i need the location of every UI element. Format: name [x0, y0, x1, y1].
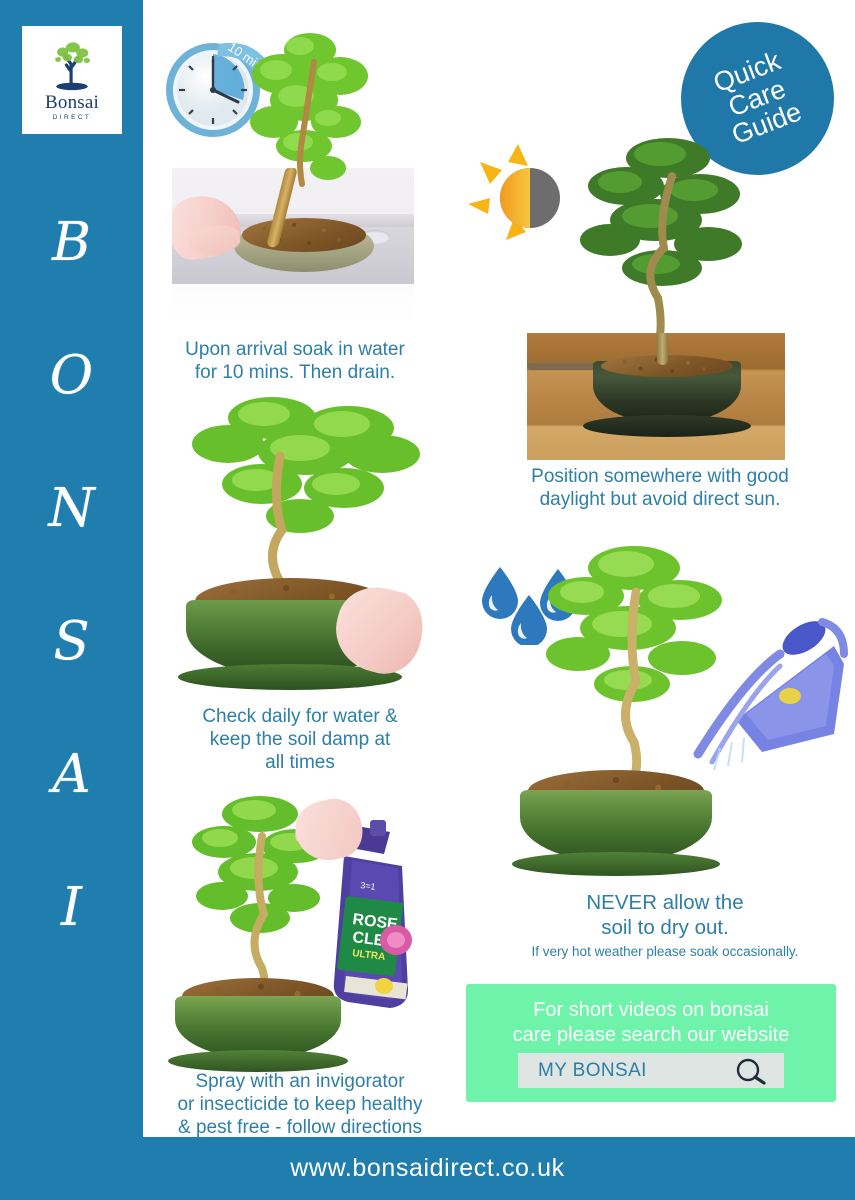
- caption-position-line1: Position somewhere with good: [500, 465, 820, 488]
- caption-position-line2: daylight but avoid direct sun.: [500, 488, 820, 511]
- footer-bar: www.bonsaidirect.co.uk: [0, 1137, 855, 1200]
- bonsai-soil: [242, 218, 366, 252]
- brand-logo[interactable]: Bonsai DIRECT: [22, 26, 122, 134]
- vertical-letter-o: O: [50, 349, 93, 402]
- caption-check-line3: all times: [160, 751, 440, 774]
- vertical-letter-a: A: [52, 748, 90, 801]
- video-search-box: For short videos on bonsai care please s…: [466, 984, 836, 1102]
- search-input-value: MY BONSAI: [538, 1060, 647, 1082]
- website-url[interactable]: www.bonsaidirect.co.uk: [290, 1154, 564, 1183]
- vertical-letter-i: I: [61, 881, 82, 934]
- caption-spray-line2: or insecticide to keep healthy: [155, 1093, 445, 1116]
- search-input[interactable]: MY BONSAI: [518, 1053, 784, 1088]
- caption-never-line2: soil to dry out.: [500, 915, 830, 940]
- vertical-bonsai-letters: B O N S A I: [0, 216, 143, 1014]
- caption-never-subtext: If very hot weather please soak occasion…: [500, 943, 830, 961]
- caption-soak: Upon arrival soak in water for 10 mins. …: [150, 338, 440, 384]
- photo-soaking-bonsai: [172, 168, 414, 328]
- bonsai-canopy-soak: [232, 22, 392, 192]
- logo-subtitle: DIRECT: [53, 114, 92, 121]
- bonsai-tree-logo-icon: [44, 40, 100, 92]
- vertical-letter-n: N: [48, 482, 94, 535]
- video-box-line2: care please search our website: [466, 1023, 836, 1048]
- watering-can-icon: [684, 602, 850, 782]
- caption-never-dry: NEVER allow the soil to dry out. If very…: [500, 890, 830, 961]
- caption-check-water: Check daily for water & keep the soil da…: [160, 705, 440, 775]
- magnifier-icon[interactable]: [734, 1057, 768, 1085]
- pot-saucer: [583, 415, 751, 437]
- vertical-letter-s: S: [53, 615, 89, 668]
- video-box-line1: For short videos on bonsai: [466, 998, 836, 1023]
- caption-spray: Spray with an invigorator or insecticide…: [155, 1070, 445, 1140]
- left-sidebar: Bonsai DIRECT B O N S A I: [0, 0, 143, 1200]
- photo-bonsai-on-windowsill: [527, 333, 785, 460]
- caption-spray-line1: Spray with an invigorator: [155, 1070, 445, 1093]
- pot-saucer: [168, 1050, 348, 1072]
- caption-check-line1: Check daily for water &: [160, 705, 440, 728]
- caption-position: Position somewhere with good daylight bu…: [500, 465, 820, 511]
- logo-wordmark: Bonsai: [45, 93, 99, 112]
- pot-saucer: [512, 852, 720, 876]
- caption-check-line2: keep the soil damp at: [160, 728, 440, 751]
- caption-soak-line1: Upon arrival soak in water: [150, 338, 440, 361]
- caption-soak-line2: for 10 mins. Then drain.: [150, 361, 440, 384]
- svg-text:3=1: 3=1: [360, 880, 376, 892]
- caption-never-line1: NEVER allow the: [500, 890, 830, 915]
- vertical-letter-b: B: [52, 216, 91, 269]
- bonsai-canopy-position: [540, 128, 770, 343]
